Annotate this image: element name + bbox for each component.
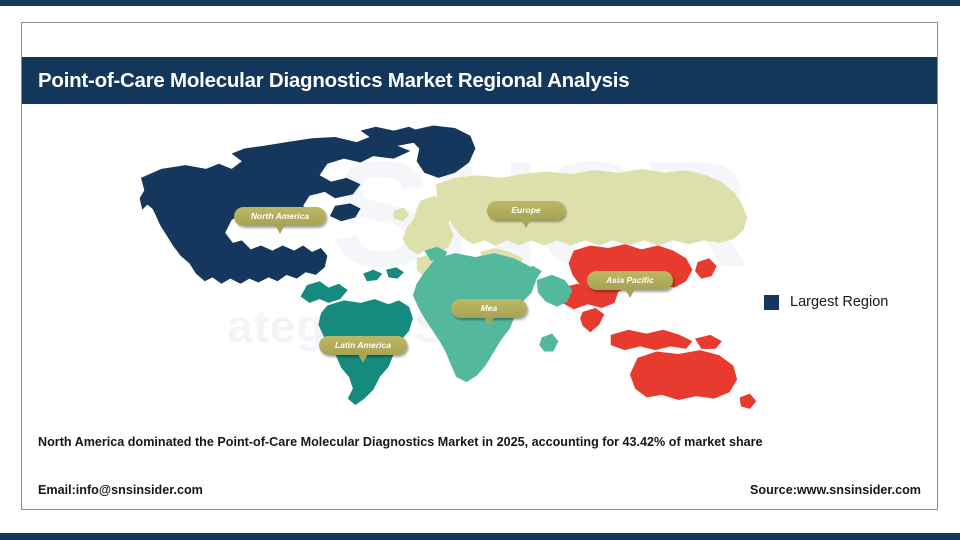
footer-email[interactable]: Email:info@snsinsider.com: [38, 483, 203, 497]
legend: Largest Region: [764, 294, 888, 310]
summary-text: North America dominated the Point-of-Car…: [38, 435, 763, 449]
map-label-mea-text: Mea: [481, 303, 498, 313]
map-region-asia-pacific[interactable]: [557, 244, 756, 409]
map-stage: SNSR ategy & Stat: [22, 104, 939, 424]
map-label-north-america[interactable]: North America: [234, 207, 326, 226]
footer-source[interactable]: Source:www.snsinsider.com: [750, 483, 921, 497]
bottom-accent-bar: [0, 533, 960, 540]
map-label-europe[interactable]: Europe: [487, 201, 565, 220]
map-label-asia-pacific-text: Asia Pacific: [606, 275, 654, 285]
map-label-asia-pacific[interactable]: Asia Pacific: [587, 271, 673, 290]
top-accent-bar: [0, 0, 960, 6]
map-region-north-america[interactable]: [140, 127, 425, 284]
legend-swatch-largest-region: [764, 295, 779, 310]
map-label-europe-text: Europe: [511, 205, 540, 215]
world-map: [130, 114, 780, 414]
map-region-greenland: [410, 125, 475, 177]
map-label-mea[interactable]: Mea: [451, 299, 527, 318]
slide-card: Point-of-Care Molecular Diagnostics Mark…: [21, 22, 938, 510]
header-bar: Point-of-Care Molecular Diagnostics Mark…: [22, 57, 937, 104]
map-label-north-america-text: North America: [251, 211, 309, 221]
page-title: Point-of-Care Molecular Diagnostics Mark…: [22, 69, 629, 93]
map-label-latin-america-text: Latin America: [335, 340, 391, 350]
legend-label-largest-region: Largest Region: [790, 294, 888, 310]
footer: Email:info@snsinsider.com Source:www.sns…: [22, 483, 937, 497]
map-label-latin-america[interactable]: Latin America: [319, 336, 407, 355]
